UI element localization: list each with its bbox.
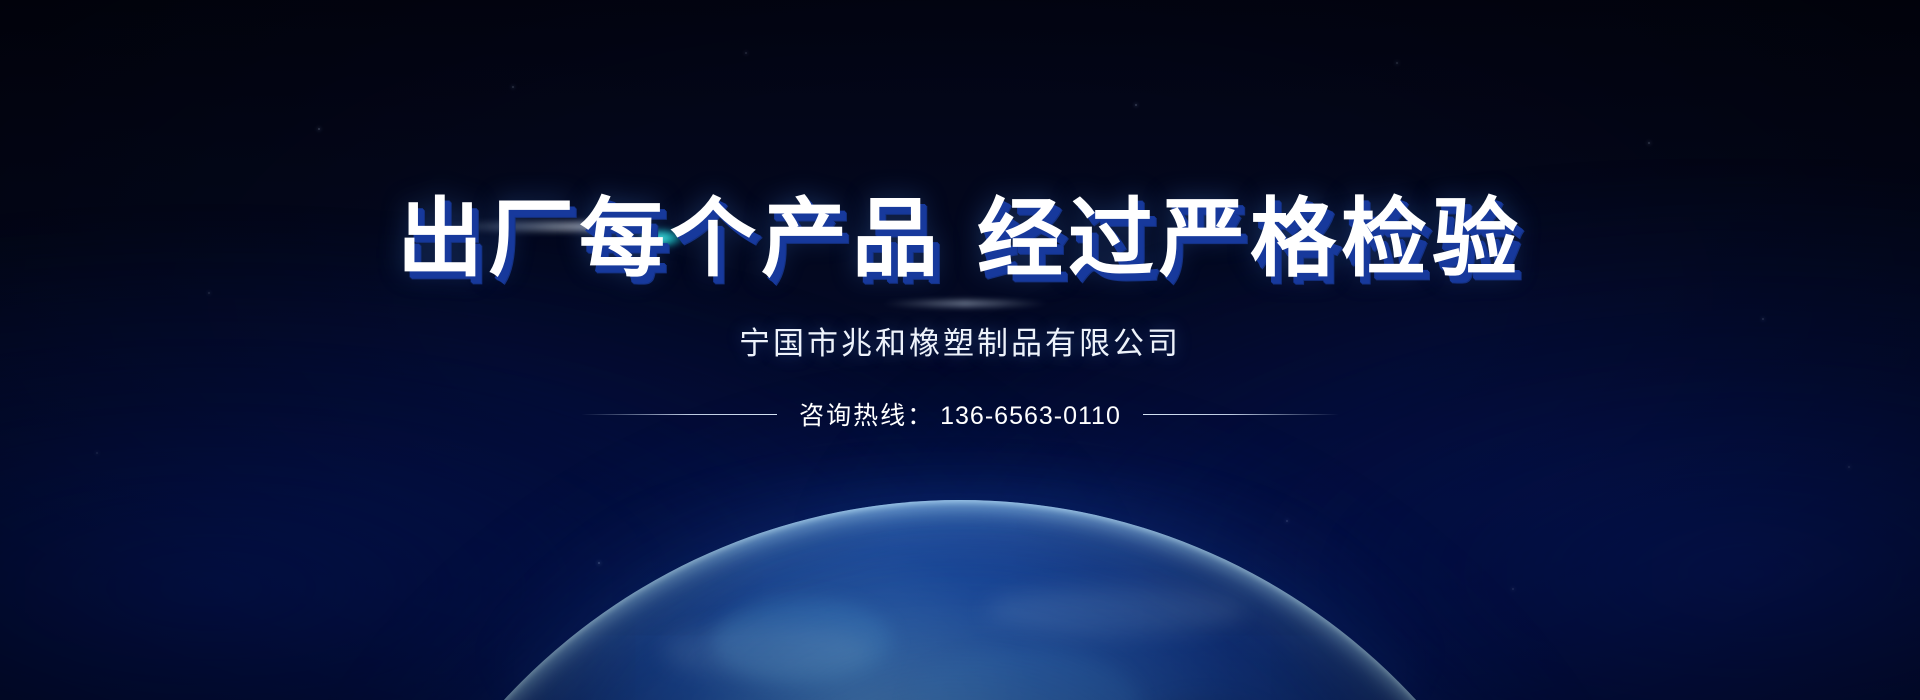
headline-part-1: 出厂每个产品 — [397, 191, 943, 287]
company-name: 宁国市兆和橡塑制品有限公司 — [739, 318, 1181, 363]
divider-line-right — [1143, 414, 1339, 415]
hotline-text: 咨询热线： 136-6563-0110 — [799, 396, 1121, 432]
hero-banner: 出厂每个产品经过严格检验 宁国市兆和橡塑制品有限公司 咨询热线： 136-656… — [0, 0, 1920, 700]
banner-headline: 出厂每个产品经过严格检验 — [397, 196, 1523, 282]
banner-content: 出厂每个产品经过严格检验 宁国市兆和橡塑制品有限公司 咨询热线： 136-656… — [0, 0, 1920, 700]
hotline-label: 咨询热线： — [799, 396, 934, 432]
hotline-number[interactable]: 136-6563-0110 — [940, 402, 1121, 431]
headline-part-2: 经过严格检验 — [977, 191, 1523, 287]
hotline-row: 咨询热线： 136-6563-0110 — [581, 396, 1339, 432]
divider-line-left — [581, 414, 777, 415]
